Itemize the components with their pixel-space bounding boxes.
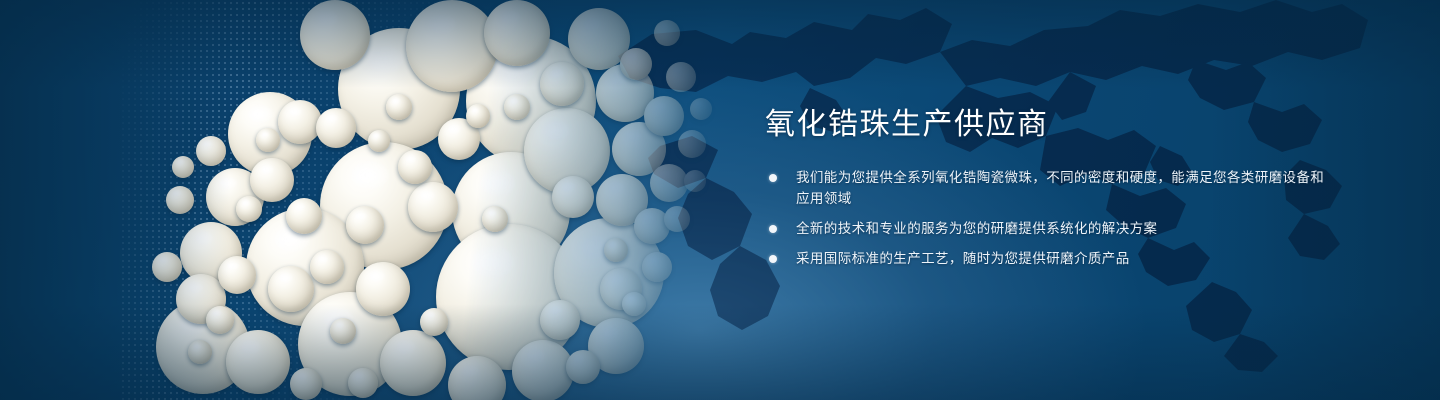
- bullet-dot-icon: [769, 225, 777, 233]
- list-item-label: 全新的技术和专业的服务为您的研磨提供系统化的解决方案: [796, 219, 1325, 240]
- list-item: 采用国际标准的生产工艺，随时为您提供研磨介质产品: [765, 249, 1325, 270]
- list-item: 全新的技术和专业的服务为您的研磨提供系统化的解决方案: [765, 219, 1325, 240]
- hero-banner: 氧化锆珠生产供应商 我们能为您提供全系列氧化锆陶瓷微珠，不同的密度和硬度，能满足…: [0, 0, 1440, 400]
- list-item: 我们能为您提供全系列氧化锆陶瓷微珠，不同的密度和硬度，能满足您各类研磨设备和应用…: [765, 168, 1325, 210]
- bullet-dot-icon: [769, 255, 777, 263]
- list-item-label: 采用国际标准的生产工艺，随时为您提供研磨介质产品: [796, 249, 1325, 270]
- feature-list: 我们能为您提供全系列氧化锆陶瓷微珠，不同的密度和硬度，能满足您各类研磨设备和应用…: [765, 168, 1325, 270]
- list-item-label: 我们能为您提供全系列氧化锆陶瓷微珠，不同的密度和硬度，能满足您各类研磨设备和应用…: [796, 168, 1325, 210]
- banner-copy: 氧化锆珠生产供应商 我们能为您提供全系列氧化锆陶瓷微珠，不同的密度和硬度，能满足…: [765, 106, 1325, 279]
- bullet-dot-icon: [769, 174, 777, 182]
- page-title: 氧化锆珠生产供应商: [765, 106, 1325, 144]
